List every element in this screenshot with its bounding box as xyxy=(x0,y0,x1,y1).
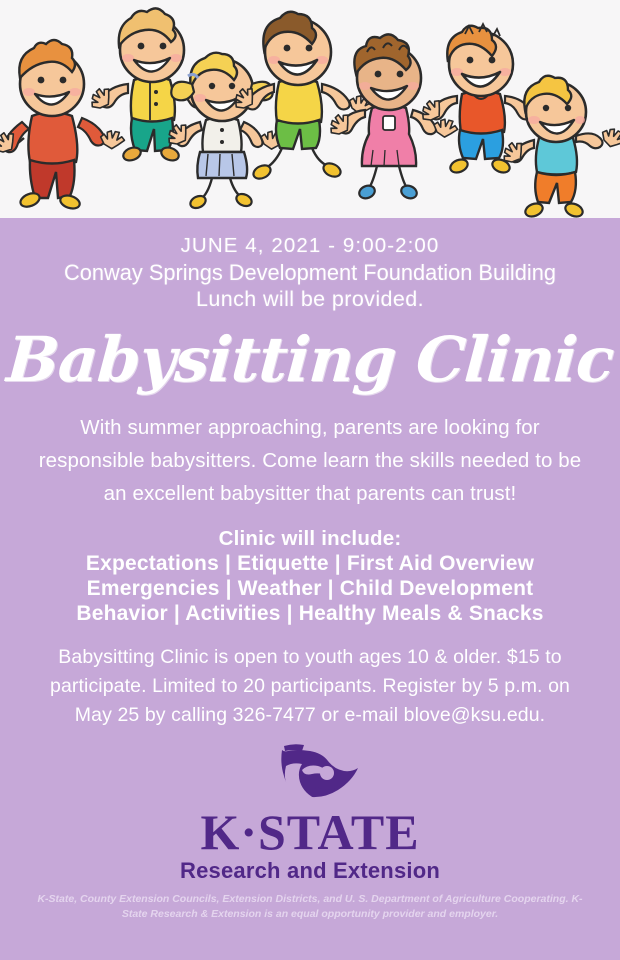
clinic-topic-line: Behavior | Activities | Healthy Meals & … xyxy=(76,601,543,626)
clinic-topics-block: Clinic will include: Expectations | Etiq… xyxy=(76,526,543,626)
event-lunch-note: Lunch will be provided. xyxy=(196,286,424,313)
page-title: Babysitting Clinic xyxy=(5,325,616,395)
hero-illustration xyxy=(0,0,620,218)
event-date-time: JUNE 4, 2021 - 9:00-2:00 xyxy=(181,232,440,259)
registration-paragraph: Babysitting Clinic is open to youth ages… xyxy=(30,643,590,730)
legal-disclaimer: K-State, County Extension Councils, Exte… xyxy=(27,892,593,922)
kstate-tagline: Research and Extension xyxy=(180,858,440,884)
kstate-logo: K·STATE Research and Extension xyxy=(180,742,440,884)
event-venue: Conway Springs Development Foundation Bu… xyxy=(64,259,556,286)
clinic-topics-heading: Clinic will include: xyxy=(76,526,543,551)
clinic-topic-line: Expectations | Etiquette | First Aid Ove… xyxy=(76,551,543,576)
kstate-wordmark: K·STATE xyxy=(200,806,419,858)
powercat-icon xyxy=(258,742,362,800)
jumping-children-illustration xyxy=(0,0,620,218)
intro-paragraph: With summer approaching, parents are loo… xyxy=(30,411,590,510)
babysitting-clinic-flyer: JUNE 4, 2021 - 9:00-2:00 Conway Springs … xyxy=(0,0,620,960)
clinic-topic-line: Emergencies | Weather | Child Developmen… xyxy=(76,576,543,601)
flyer-body: JUNE 4, 2021 - 9:00-2:00 Conway Springs … xyxy=(0,218,620,960)
